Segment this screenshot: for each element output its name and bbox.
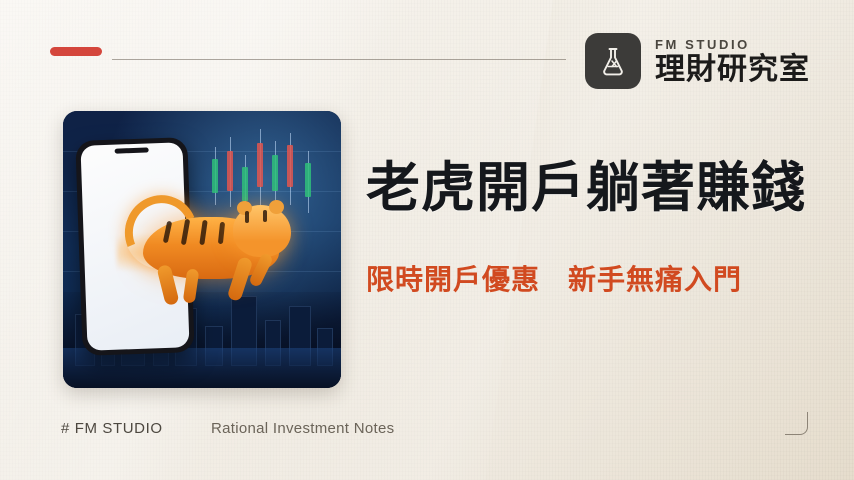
subheadline-item-1: 限時開戶優惠 — [366, 258, 540, 298]
candle-body — [227, 151, 233, 191]
candle-body — [305, 163, 311, 197]
flask-logo-icon — [585, 33, 641, 89]
candle-body — [272, 155, 278, 191]
tiger-stripe — [263, 210, 267, 222]
header-accent-bar — [50, 47, 102, 56]
tiger-stripe — [245, 211, 249, 223]
brand-text: FM STUDIO 理財研究室 — [655, 37, 810, 85]
footer-tagline: Rational Investment Notes — [211, 420, 394, 437]
tiger-stripe — [181, 219, 190, 245]
subheadline-item-2: 新手無痛入門 — [568, 258, 742, 298]
candle-body — [257, 143, 263, 187]
tiger-stripe — [218, 222, 225, 244]
headline: 老虎開戶躺著賺錢 — [366, 158, 822, 216]
corner-bracket-decoration — [785, 412, 808, 435]
tiger-stripe — [199, 220, 207, 245]
candle-body — [242, 167, 248, 201]
tiger-head — [233, 205, 291, 257]
candle-body — [287, 145, 293, 187]
candle-body — [212, 159, 218, 193]
subheadline: 限時開戶優惠 新手無痛入門 — [366, 258, 826, 298]
brand-name-en: FM STUDIO — [655, 37, 810, 52]
brand-name-cn: 理財研究室 — [655, 55, 810, 85]
tiger-ear — [269, 200, 284, 214]
poster-canvas: FM STUDIO 理財研究室 — [0, 0, 854, 480]
brand-block: FM STUDIO 理財研究室 — [585, 33, 810, 89]
footer-tag: # FM STUDIO — [61, 420, 163, 437]
hero-image-card — [63, 111, 341, 388]
header-divider-line — [112, 59, 566, 60]
tiger-illustration — [121, 199, 311, 329]
